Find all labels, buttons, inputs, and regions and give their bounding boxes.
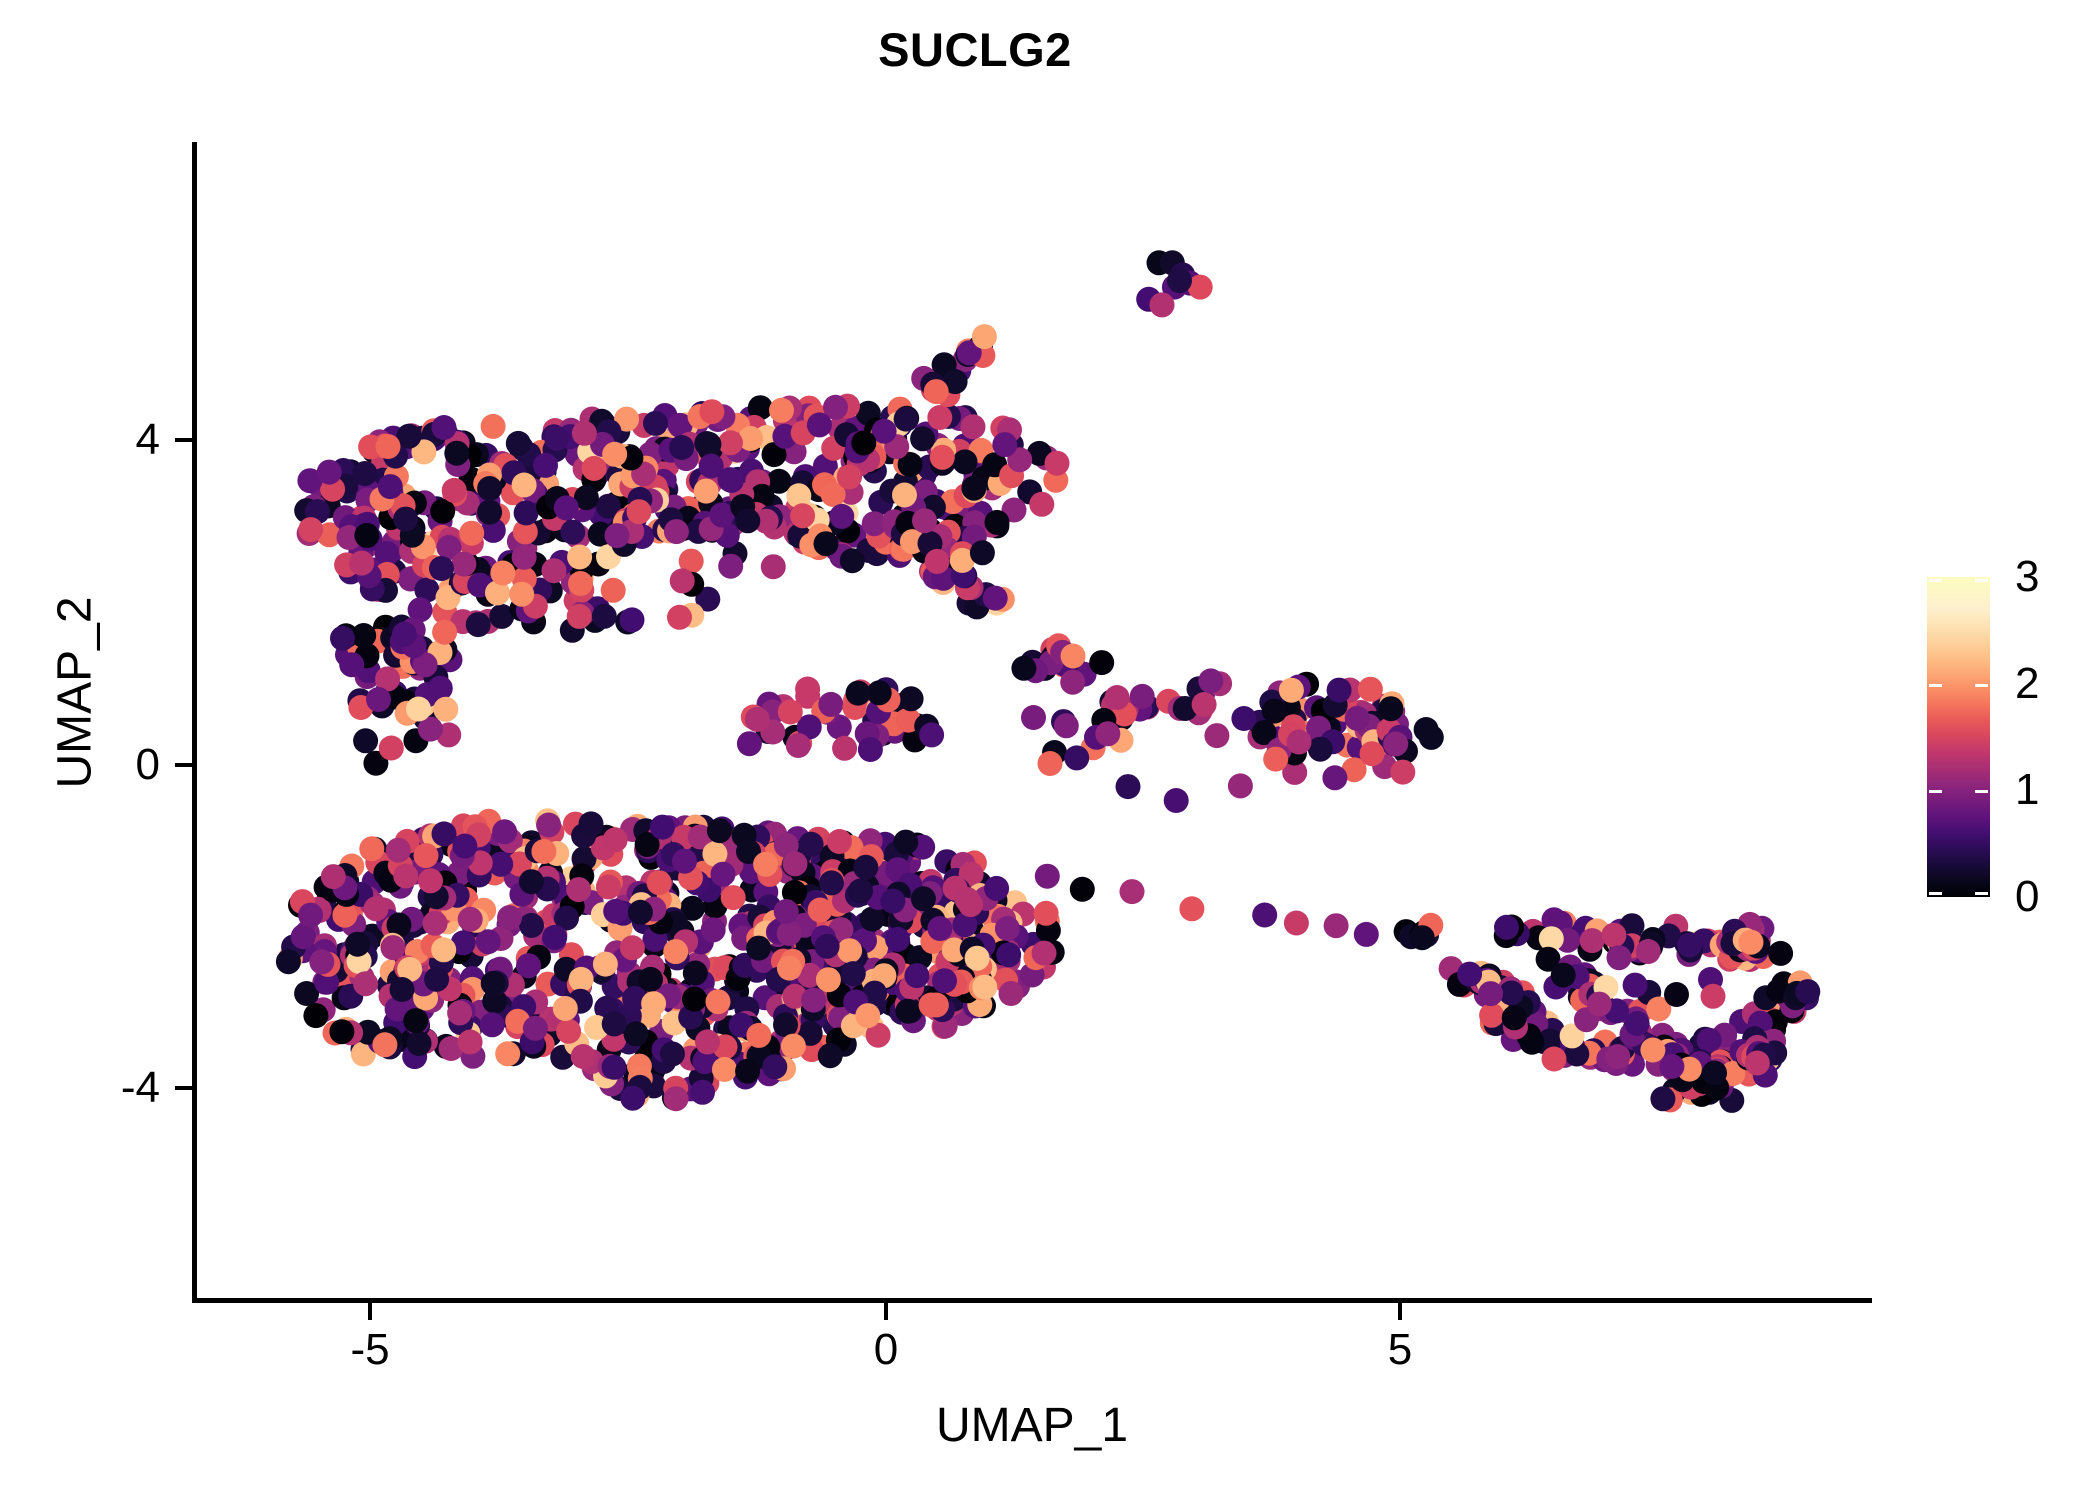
x-tick-label: -5: [350, 1325, 389, 1375]
colorbar-legend: [1927, 577, 1990, 897]
y-axis-line: [192, 142, 197, 1303]
colorbar-tick-mark: [1975, 892, 1988, 895]
x-axis-title: UMAP_1: [192, 1398, 1872, 1453]
colorbar-tick-label: 2: [2015, 659, 2039, 709]
colorbar-tick-mark: [1929, 684, 1942, 687]
colorbar-tick-mark: [1975, 579, 1988, 582]
x-tick-mark: [1398, 1303, 1402, 1320]
x-axis-line: [192, 1298, 1872, 1303]
y-tick-label: 4: [136, 415, 160, 465]
plot-area: [192, 142, 1872, 1303]
colorbar-tick-mark: [1929, 579, 1942, 582]
x-tick-mark: [884, 1303, 888, 1320]
x-tick-label: 5: [1388, 1325, 1412, 1375]
x-tick-mark: [368, 1303, 372, 1320]
y-tick-mark: [175, 1086, 192, 1090]
y-tick-label: 0: [136, 740, 160, 790]
y-tick-mark: [175, 763, 192, 767]
colorbar-tick-mark: [1975, 684, 1988, 687]
page-title: SUCLG2: [0, 22, 1950, 77]
colorbar-tick-mark: [1929, 790, 1942, 793]
y-tick-label: -4: [121, 1063, 160, 1113]
colorbar-tick-label: 1: [2015, 765, 2039, 815]
y-axis-title: UMAP_2: [48, 343, 103, 1043]
x-tick-label: 0: [874, 1325, 898, 1375]
colorbar-tick-label: 0: [2015, 872, 2039, 922]
colorbar-tick-label: 3: [2015, 552, 2039, 602]
colorbar-tick-mark: [1975, 790, 1988, 793]
colorbar-gradient: [1927, 577, 1990, 897]
feature-plot-page: SUCLG2 -505 40-4 UMAP_1 UMAP_2 3210: [0, 0, 2100, 1500]
y-tick-mark: [175, 438, 192, 442]
colorbar-tick-mark: [1929, 892, 1942, 895]
scatter-points: [192, 142, 1872, 1303]
